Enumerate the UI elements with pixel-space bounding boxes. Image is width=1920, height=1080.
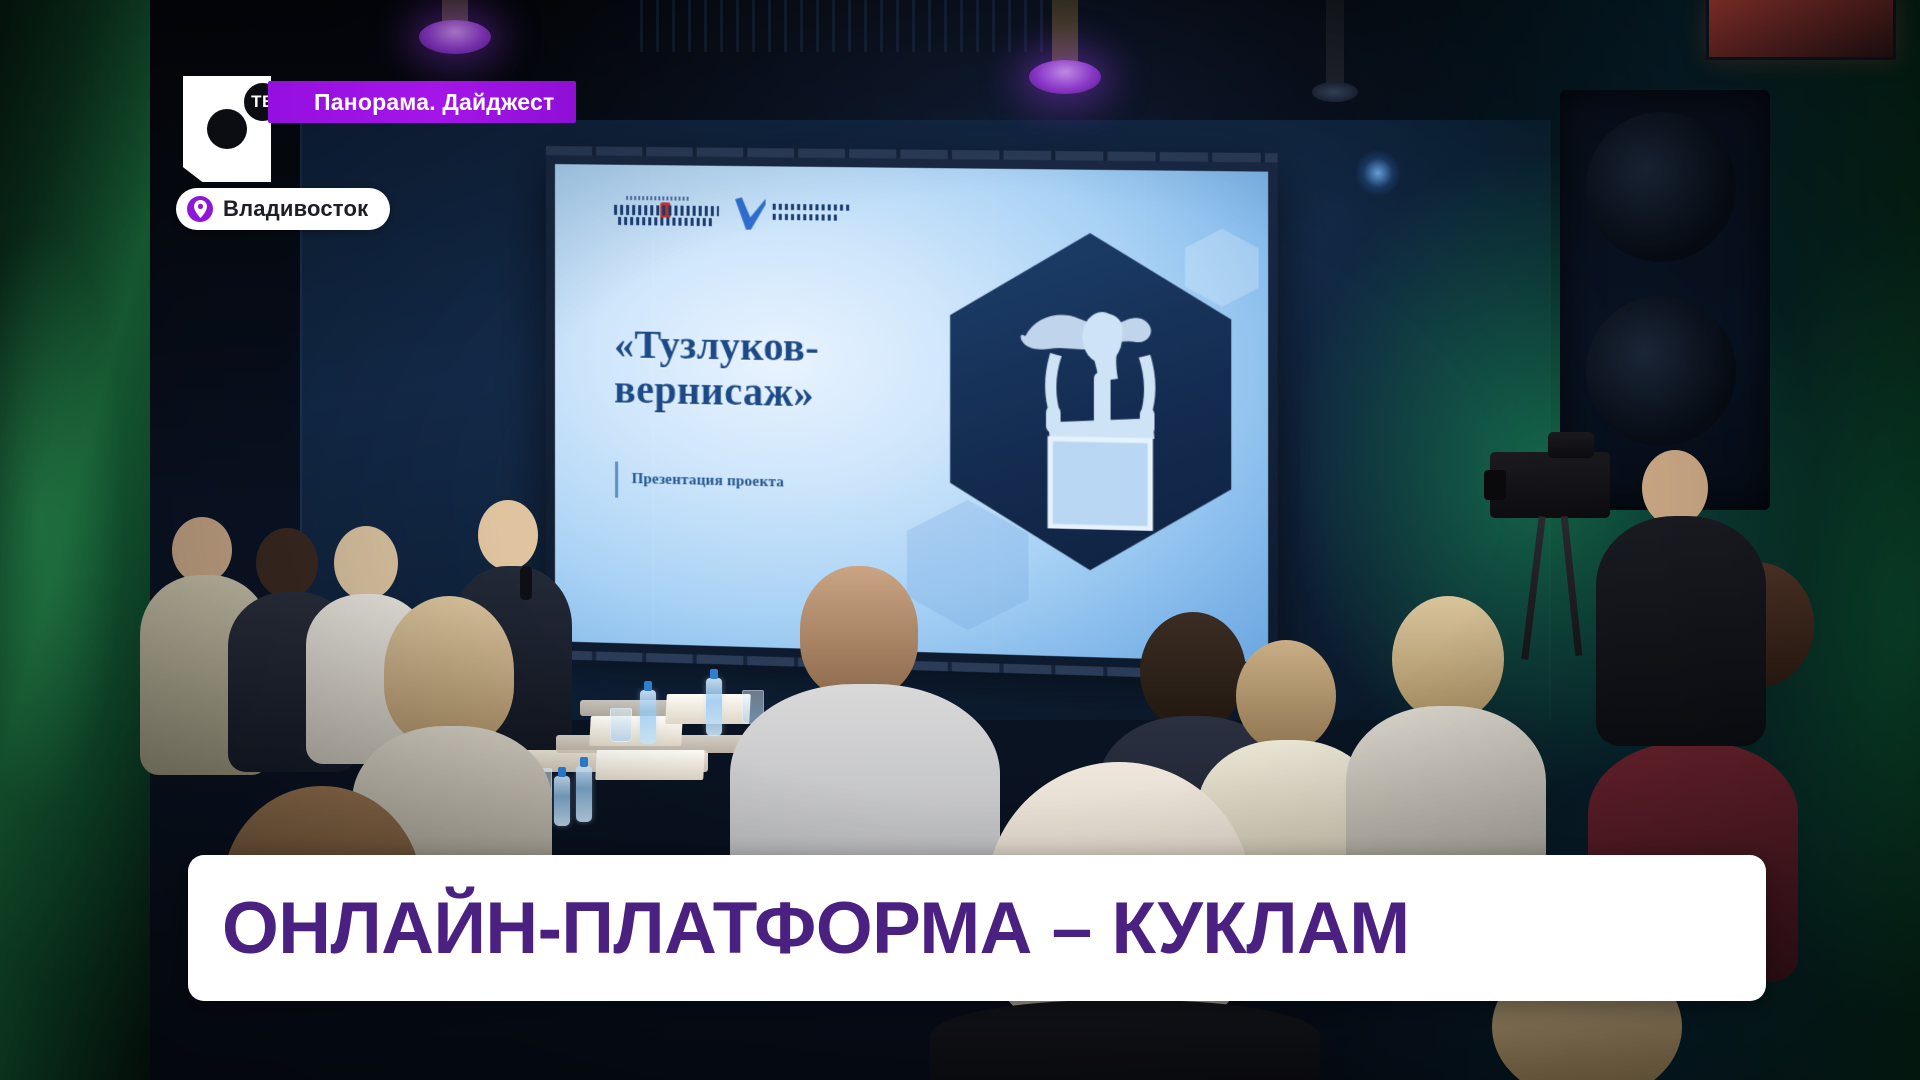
audience-body: [930, 1000, 1320, 1080]
broadcast-frame: «Тузлуков- вернисаж» Презентация проекта: [0, 0, 1920, 1080]
slide-subtitle: Презентация проекта: [632, 471, 785, 492]
hexagon-accent-shape: [1185, 228, 1259, 307]
audience-head: [1236, 640, 1336, 752]
camera-lens: [1484, 470, 1506, 500]
audience-head: [800, 566, 918, 698]
person-head: [478, 500, 538, 570]
puppet-marionette-icon: [986, 272, 1194, 532]
water-bottle: [576, 766, 592, 822]
drinking-glass: [610, 708, 632, 742]
projection-screen: «Тузлуков- вернисаж» Презентация проекта: [546, 155, 1278, 672]
slide-logo-row: [614, 196, 850, 231]
stage-lamp: [400, 0, 510, 64]
audience-head: [1140, 612, 1246, 732]
slide-title-line-2: вернисаж»: [614, 367, 939, 419]
video-camera: [1490, 452, 1610, 518]
audience-head: [384, 596, 514, 746]
headline-bar: ОНЛАЙН-ПЛАТФОРМА – КУКЛАМ: [188, 855, 1766, 1001]
water-bottle: [554, 776, 570, 826]
slide-surface: «Тузлуков- вернисаж» Презентация проекта: [555, 164, 1268, 662]
water-bottle: [706, 678, 722, 736]
location-label: Владивосток: [223, 196, 368, 222]
cameraman-head: [1642, 450, 1708, 526]
map-pin-icon: [187, 196, 213, 222]
program-banner: Панорама. Дайджест: [268, 81, 576, 123]
person-head: [256, 528, 318, 598]
location-pill: Владивосток: [176, 188, 390, 230]
light-flare: [1355, 150, 1401, 196]
slide-subtitle-accent-bar: [615, 461, 618, 497]
slide-hexagon-graphic: [950, 231, 1231, 574]
name-card: [595, 750, 705, 780]
slide-title-line-1: «Тузлуков-: [614, 323, 939, 374]
camera-viewfinder: [1548, 432, 1594, 458]
person-head: [334, 526, 398, 600]
ceiling-truss: [640, 0, 1060, 52]
wall-monitor: [1706, 0, 1896, 60]
water-bottle: [640, 690, 656, 744]
potanin-foundation-logo-icon: [735, 197, 850, 231]
slide-title: «Тузлуков- вернисаж»: [614, 323, 939, 419]
audience-head: [1392, 596, 1504, 722]
microphone-icon: [520, 566, 532, 600]
person-head: [172, 517, 232, 583]
program-banner-label: Панорама. Дайджест: [314, 89, 554, 116]
cameraman-body: [1596, 516, 1766, 746]
headline-text: ОНЛАЙН-ПЛАТФОРМА – КУКЛАМ: [222, 892, 1410, 965]
slide-subtitle-group: Презентация проекта: [615, 461, 784, 501]
green-lit-wall-left: [0, 0, 150, 1080]
partner-logo-icon: [614, 196, 719, 229]
stage-lamp: [1010, 0, 1120, 104]
